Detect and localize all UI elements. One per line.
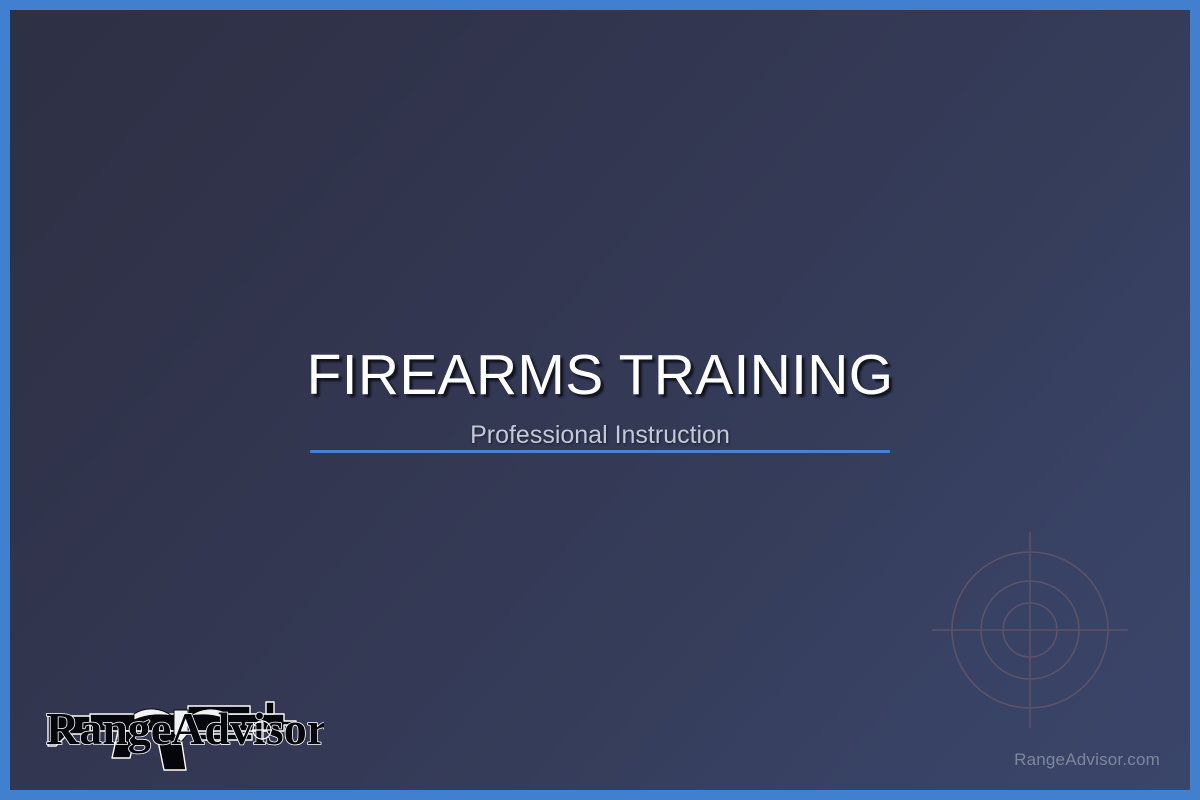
footer-url: RangeAdvisor.com [1014,750,1160,770]
brand-logo: RangeAdvisor [38,676,324,776]
presentation-slide: FIREARMS TRAINING Professional Instructi… [0,0,1200,800]
page-subtitle: Professional Instruction [10,422,1190,450]
title-block: FIREARMS TRAINING Professional Instructi… [10,346,1190,449]
page-title: FIREARMS TRAINING [10,346,1190,406]
slide-canvas: FIREARMS TRAINING Professional Instructi… [10,10,1190,790]
crosshair-target-icon [932,532,1128,728]
accent-divider [310,450,890,453]
brand-logo-text: RangeAdvisor [46,703,324,754]
